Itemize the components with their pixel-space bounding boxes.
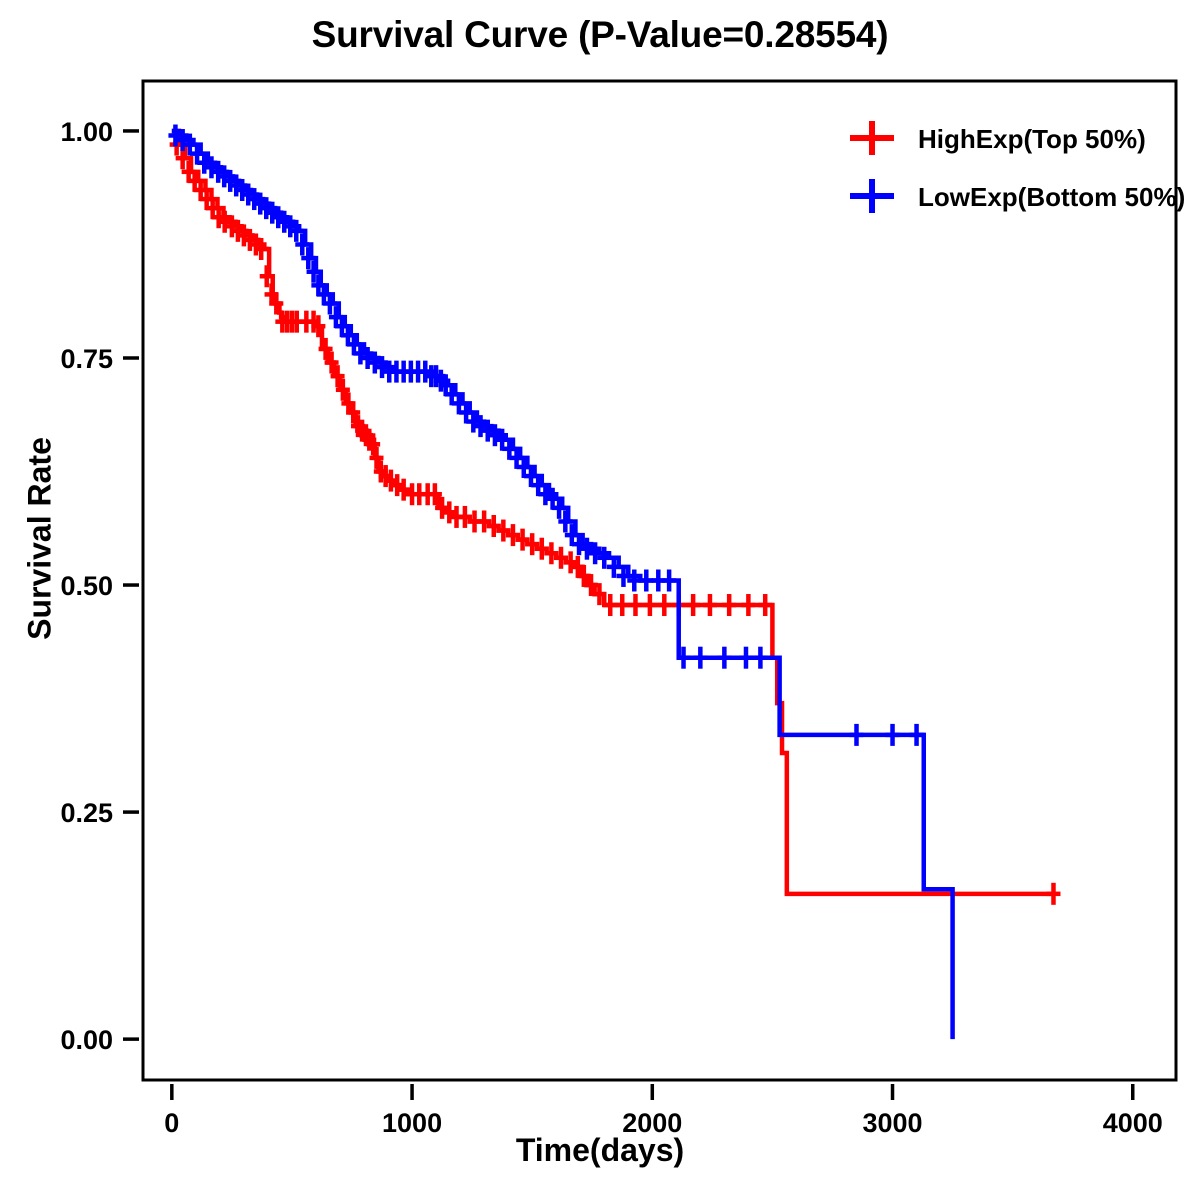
x-axis-tick-label: 0 <box>164 1108 179 1138</box>
legend-item[interactable]: LowExp(Bottom 50%) <box>850 179 1185 213</box>
legend-item[interactable]: HighExp(Top 50%) <box>850 121 1146 155</box>
series-layer <box>168 124 1060 1039</box>
legend-label: HighExp(Top 50%) <box>918 124 1146 154</box>
y-axis-tick-label: 0.00 <box>60 1025 113 1055</box>
y-axis-tick-label: 0.25 <box>60 798 113 828</box>
x-axis-tick-label: 2000 <box>622 1108 682 1138</box>
x-axis-tick-label: 1000 <box>382 1108 442 1138</box>
series-lowexp-bottom-50 <box>168 124 952 1039</box>
step-line <box>172 131 953 1039</box>
y-axis-tick-label: 0.50 <box>60 571 113 601</box>
legend-label: LowExp(Bottom 50%) <box>918 182 1185 212</box>
y-axis-tick-label: 0.75 <box>60 344 113 374</box>
plot-area: 010002000300040000.000.250.500.751.00 Hi… <box>0 0 1200 1200</box>
axes-layer: 010002000300040000.000.250.500.751.00 <box>60 81 1176 1138</box>
y-axis-tick-label: 1.00 <box>60 117 113 147</box>
legend-layer: HighExp(Top 50%)LowExp(Bottom 50%) <box>850 121 1185 213</box>
x-axis-tick-label: 3000 <box>862 1108 922 1138</box>
x-axis-tick-label: 4000 <box>1103 1108 1163 1138</box>
survival-curve-figure: Survival Curve (P-Value=0.28554) Surviva… <box>0 0 1200 1200</box>
